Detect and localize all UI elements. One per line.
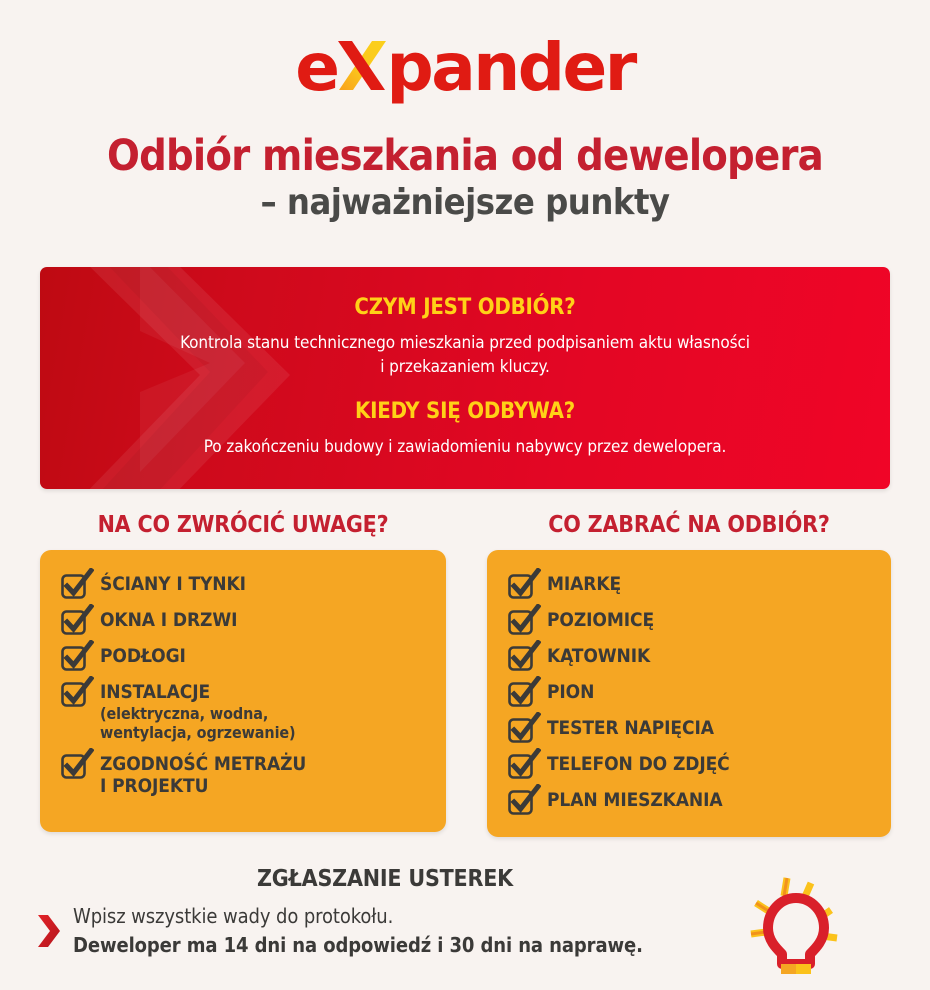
- list-item-label: ZGODNOŚĆ METRAŻUI PROJEKTU: [100, 752, 306, 798]
- footer-section: ZGŁASZANIE USTEREK Wpisz wszystkie wady …: [0, 866, 930, 990]
- column-attention: NA CO ZWRÓCIĆ UWAGĘ? ŚCIANY I TYNKI OKNA…: [40, 512, 446, 832]
- list-item-label: MIARKĘ: [547, 572, 621, 595]
- checkbox-checked-icon: [507, 789, 533, 815]
- checkbox-checked-icon: [507, 645, 533, 671]
- column-bring: CO ZABRAĆ NA ODBIÓR? MIARKĘ POZIOMICĘ KĄ…: [487, 512, 891, 837]
- card-attention: ŚCIANY I TYNKI OKNA I DRZWI PODŁOGI INST…: [40, 550, 446, 832]
- banner-heading-1: CZYM JEST ODBIÓR?: [354, 295, 575, 320]
- list-item-label: OKNA I DRZWI: [100, 608, 237, 631]
- list-item: PLAN MIESZKANIA: [507, 788, 873, 815]
- list-item: TESTER NAPIĘCIA: [507, 716, 873, 743]
- list-item: PION: [507, 680, 873, 707]
- list-item: KĄTOWNIK: [507, 644, 873, 671]
- checkbox-checked-icon: [507, 753, 533, 779]
- logo-text-after: pander: [386, 35, 634, 101]
- column-bring-heading: CO ZABRAĆ NA ODBIÓR?: [487, 512, 891, 538]
- infographic-page: e pander Odbiór mieszkania o: [0, 0, 930, 990]
- list-item-label: PODŁOGI: [100, 644, 186, 667]
- expander-logo: e pander: [295, 32, 635, 102]
- checklist-bring: MIARKĘ POZIOMICĘ KĄTOWNIK PION TESTER NA…: [507, 572, 873, 815]
- list-item: MIARKĘ: [507, 572, 873, 599]
- list-item-label: TELEFON DO ZDJĘĆ: [547, 752, 730, 775]
- column-attention-heading: NA CO ZWRÓCIĆ UWAGĘ?: [40, 512, 446, 538]
- list-item: TELEFON DO ZDJĘĆ: [507, 752, 873, 779]
- checkbox-checked-icon: [60, 681, 86, 707]
- chevron-right-icon: [36, 911, 62, 951]
- list-item: POZIOMICĘ: [507, 608, 873, 635]
- footer-body: Wpisz wszystkie wady do protokołu. Dewel…: [36, 902, 643, 960]
- page-title-block: Odbiór mieszkania od dewelopera – najważ…: [0, 132, 930, 223]
- list-item-label: POZIOMICĘ: [547, 608, 654, 631]
- checkbox-checked-icon: [507, 573, 533, 599]
- checkbox-checked-icon: [60, 573, 86, 599]
- footer-text: Wpisz wszystkie wady do protokołu. Dewel…: [73, 902, 643, 960]
- list-item: ŚCIANY I TYNKI: [60, 572, 428, 599]
- checkbox-checked-icon: [507, 609, 533, 635]
- brand-logo: e pander: [0, 28, 930, 106]
- banner-text-1-line-2: i przekazaniem kluczy.: [380, 357, 550, 377]
- checkbox-checked-icon: [507, 717, 533, 743]
- intro-banner-content: CZYM JEST ODBIÓR? Kontrola stanu technic…: [40, 267, 890, 489]
- list-item-label: PION: [547, 680, 594, 703]
- checkbox-checked-icon: [60, 645, 86, 671]
- checkbox-checked-icon: [60, 753, 86, 779]
- checkbox-checked-icon: [507, 681, 533, 707]
- logo-text-before: e: [295, 35, 337, 101]
- intro-banner: CZYM JEST ODBIÓR? Kontrola stanu technic…: [40, 267, 890, 489]
- logo-x-icon: [336, 33, 388, 91]
- list-item-label: TESTER NAPIĘCIA: [547, 716, 714, 739]
- card-bring: MIARKĘ POZIOMICĘ KĄTOWNIK PION TESTER NA…: [487, 550, 891, 837]
- list-item-label: ŚCIANY I TYNKI: [100, 572, 246, 595]
- page-subtitle: – najważniejsze punkty: [0, 182, 930, 223]
- list-item: PODŁOGI: [60, 644, 428, 671]
- lightbulb-icon: [734, 872, 852, 982]
- list-item-label: INSTALACJE(elektryczna, wodna,wentylacja…: [100, 680, 296, 743]
- list-item: OKNA I DRZWI: [60, 608, 428, 635]
- checklist-attention: ŚCIANY I TYNKI OKNA I DRZWI PODŁOGI INST…: [60, 572, 428, 798]
- footer-line-2: Deweloper ma 14 dni na odpowiedź i 30 dn…: [73, 931, 643, 960]
- banner-text-1: Kontrola stanu technicznego mieszkania p…: [180, 331, 750, 379]
- list-item-note: (elektryczna, wodna,wentylacja, ogrzewan…: [100, 704, 296, 743]
- list-item-label: PLAN MIESZKANIA: [547, 788, 723, 811]
- page-title: Odbiór mieszkania od dewelopera: [0, 132, 930, 180]
- list-item-label: KĄTOWNIK: [547, 644, 650, 667]
- banner-text-1-line-1: Kontrola stanu technicznego mieszkania p…: [180, 333, 750, 353]
- footer-line-1: Wpisz wszystkie wady do protokołu.: [73, 902, 643, 931]
- list-item: INSTALACJE(elektryczna, wodna,wentylacja…: [60, 680, 428, 743]
- checkbox-checked-icon: [60, 609, 86, 635]
- list-item: ZGODNOŚĆ METRAŻUI PROJEKTU: [60, 752, 428, 798]
- banner-heading-2: KIEDY SIĘ ODBYWA?: [355, 399, 575, 424]
- banner-text-2: Po zakończeniu budowy i zawiadomieniu na…: [204, 435, 726, 459]
